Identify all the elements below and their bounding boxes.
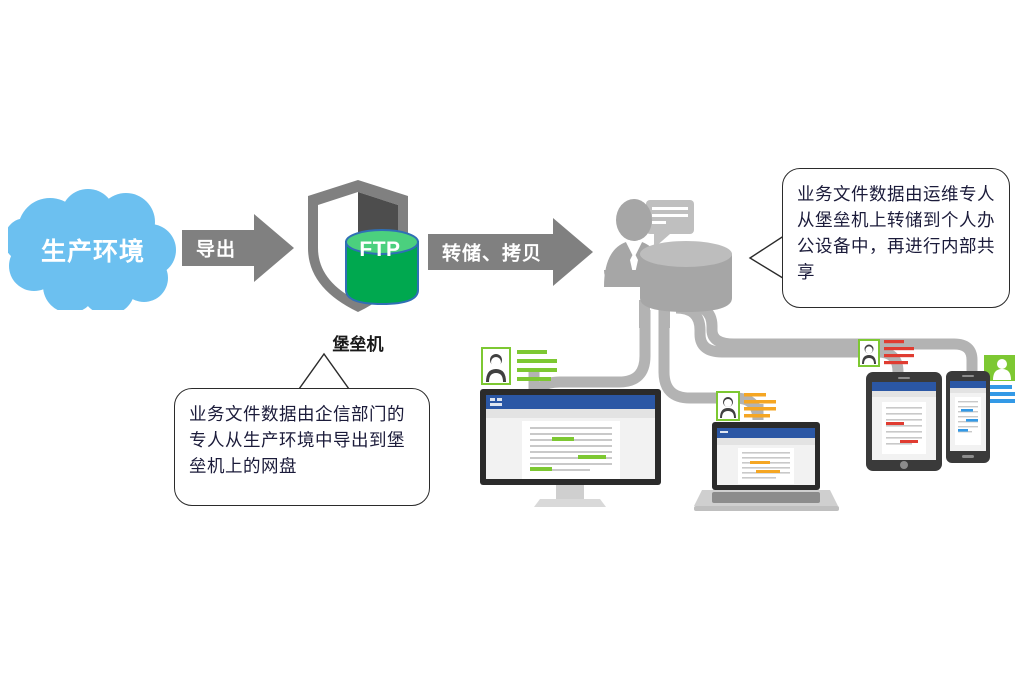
cloud-node: 生产环境 <box>8 188 178 310</box>
transfer-arrow: 转储、拷贝 <box>428 216 593 288</box>
callout-left-text: 业务文件数据由企信部门的专人从生产环境中导出到堡垒机上的网盘 <box>189 401 415 479</box>
export-arrow: 导出 <box>182 212 294 284</box>
laptop-icon <box>694 420 839 515</box>
diagram-canvas: 生产环境 导出 FTP 堡垒机 转储、拷贝 <box>0 0 1015 675</box>
export-arrow-label: 导出 <box>196 235 236 262</box>
contact-card-red-icon <box>858 338 922 370</box>
device-tablet <box>864 338 944 473</box>
ftp-label: FTP <box>346 238 414 262</box>
smartphone-icon <box>944 369 992 465</box>
transfer-arrow-label: 转储、拷贝 <box>442 239 542 266</box>
callout-right: 业务文件数据由运维专人从堡垒机上转储到个人办公设备中，再进行内部共享 <box>782 168 1010 308</box>
bastion-host: FTP <box>294 176 422 316</box>
operations-person <box>596 192 756 322</box>
cloud-label: 生产环境 <box>8 232 178 268</box>
contact-card-orange-icon <box>716 390 778 424</box>
device-phone <box>944 355 1015 465</box>
desktop-monitor-icon <box>478 387 663 510</box>
storage-cylinder-icon <box>638 240 734 320</box>
device-desktop <box>478 345 663 510</box>
tablet-icon <box>864 370 944 473</box>
callout-right-text: 业务文件数据由运维专人从堡垒机上转储到个人办公设备中，再进行内部共享 <box>797 181 995 285</box>
callout-left: 业务文件数据由企信部门的专人从生产环境中导出到堡垒机上的网盘 <box>174 388 430 506</box>
contact-card-green-icon <box>481 345 559 389</box>
device-laptop <box>694 390 839 515</box>
